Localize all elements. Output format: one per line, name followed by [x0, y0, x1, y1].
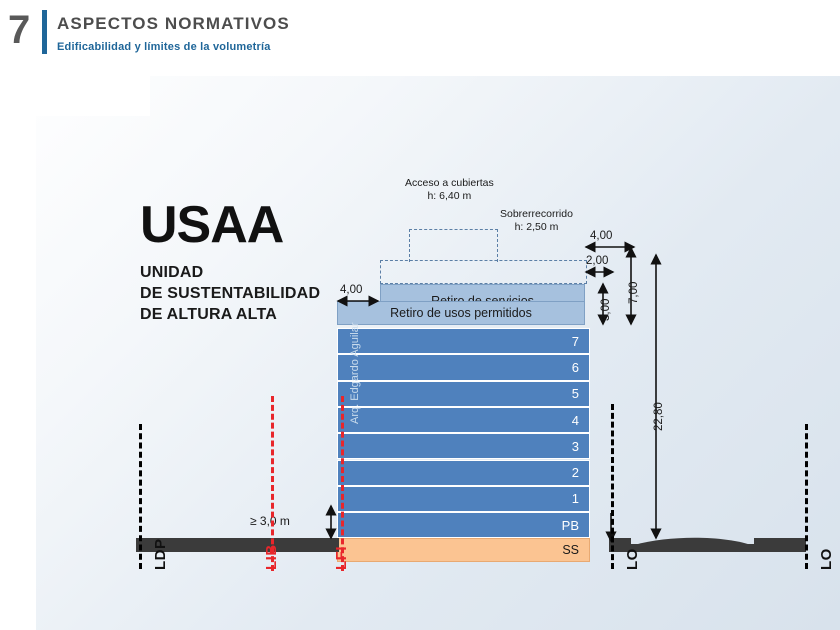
- refline-lo-right: [805, 424, 808, 569]
- floor-label-pb: PB: [562, 518, 579, 533]
- floor-label-2: 2: [572, 465, 579, 480]
- band-retiro-usos: Retiro de usos permitidos: [337, 301, 585, 325]
- usaa-line-3: DE ALTURA ALTA: [140, 304, 320, 325]
- sobrerrecorrido-height: h: 2,50 m: [500, 221, 573, 234]
- diagram-canvas: USAA UNIDAD DE SUSTENTABILIDAD DE ALTURA…: [0, 76, 840, 630]
- slide-root: 7 ASPECTOS NORMATIVOS Edificabilidad y l…: [0, 0, 840, 630]
- sobrerrecorrido-note: Sobrerrecorrido h: 2,50 m: [500, 208, 573, 234]
- dim-usos-height-label: 3,00: [600, 299, 612, 321]
- band-retiro-usos-label: Retiro de usos permitidos: [390, 306, 532, 320]
- usaa-line-1: UNIDAD: [140, 262, 320, 283]
- floor-label-7: 7: [572, 334, 579, 349]
- usaa-acronym: USAA: [140, 198, 283, 252]
- floor-label-1: 1: [572, 491, 579, 506]
- refline-label-lo-right: LO: [818, 548, 835, 570]
- acceso-cubiertas-volume: [409, 229, 498, 262]
- refline-label-lib: LIB: [263, 544, 280, 570]
- left-margin: [0, 76, 36, 630]
- floor-band-7: 7: [337, 328, 590, 354]
- page-title: ASPECTOS NORMATIVOS: [57, 14, 290, 34]
- refline-ldp: [139, 424, 142, 569]
- floor-band-2: 2: [337, 460, 590, 486]
- dim-left-retiro-label: 4,00: [340, 284, 362, 296]
- dim-building-total-label: 22,80: [653, 402, 665, 431]
- page-subtitle: Edificabilidad y límites de la volumetrí…: [57, 41, 271, 53]
- street-crown: [631, 538, 754, 552]
- refline-label-lfi: LFI: [333, 546, 350, 570]
- sobrerrecorrido-label: Sobrerrecorrido: [500, 208, 573, 221]
- acceso-cubiertas-height: h: 6,40 m: [405, 190, 494, 203]
- header-accent-bar: [42, 10, 47, 54]
- section-number: 7: [8, 8, 30, 52]
- usaa-line-2: DE SUSTENTABILIDAD: [140, 283, 320, 304]
- refline-label-ldp: LDP: [152, 539, 169, 571]
- acceso-cubiertas-note: Acceso a cubiertas h: 6,40 m: [405, 177, 494, 203]
- floor-band-5: 5: [337, 381, 590, 407]
- floor-band-6: 6: [337, 354, 590, 380]
- acceso-cubiertas-label: Acceso a cubiertas: [405, 177, 494, 190]
- dim-upper-total-label: 7,00: [628, 282, 640, 304]
- ground-far-right-curb: [754, 538, 806, 552]
- floor-label-3: 3: [572, 439, 579, 454]
- dim-right-top-label: 4,00: [590, 230, 612, 242]
- dim-right-servicios-label: 2,00: [586, 255, 608, 267]
- sobrerrecorrido-volume: [380, 260, 587, 284]
- watermark-text: Arq. Edgardo Aguilar: [349, 322, 361, 424]
- refline-lfi: [341, 396, 344, 571]
- floor-band-3: 3: [337, 433, 590, 459]
- floor-label-4: 4: [572, 413, 579, 428]
- floor-band-pb: PB: [337, 512, 590, 538]
- refline-label-lo-left: LO: [624, 548, 641, 570]
- top-left-white-block: [0, 76, 150, 116]
- street-surface: [631, 544, 754, 552]
- refline-lo-left: [611, 404, 614, 569]
- floor-label-5: 5: [572, 386, 579, 401]
- band-subsuelo-label: SS: [562, 543, 579, 557]
- floor-label-6: 6: [572, 360, 579, 375]
- band-subsuelo: SS: [337, 538, 590, 562]
- floor-band-1: 1: [337, 486, 590, 512]
- dim-min-retiro-label: ≥ 3,0 m: [250, 514, 290, 528]
- usaa-description: UNIDAD DE SUSTENTABILIDAD DE ALTURA ALTA: [140, 262, 320, 325]
- floor-band-4: 4: [337, 407, 590, 433]
- slide-header: 7 ASPECTOS NORMATIVOS Edificabilidad y l…: [0, 0, 840, 76]
